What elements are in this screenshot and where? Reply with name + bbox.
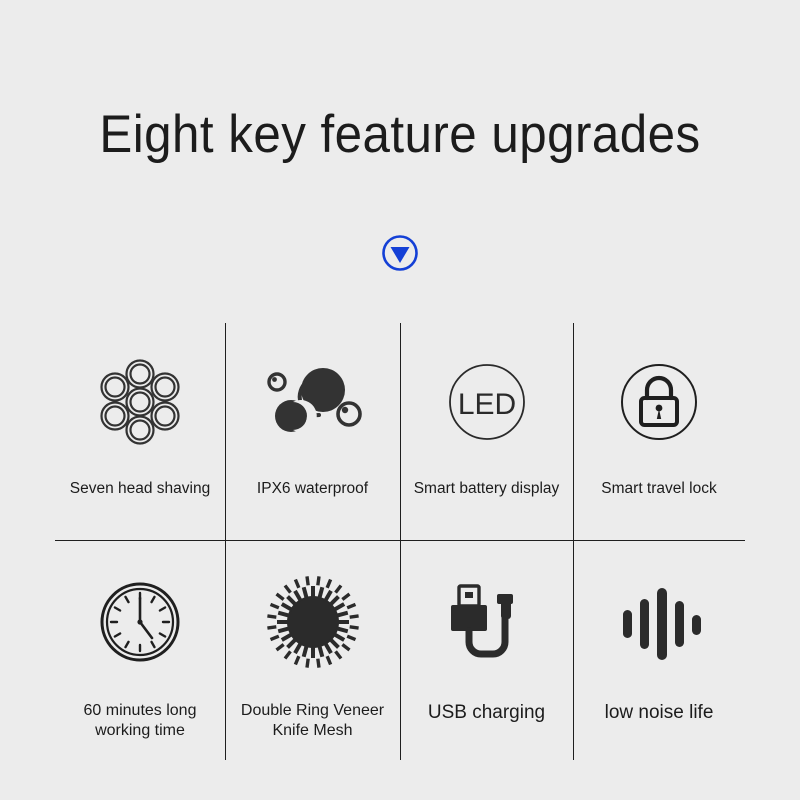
features-grid: Seven head shaving [55,323,745,760]
feature-cell-ipx6-waterproof[interactable]: IPX6 waterproof [225,323,400,540]
feature-label: low noise life [573,701,745,725]
feature-cell-smart-travel-lock[interactable]: Smart travel lock [573,323,745,540]
clock-icon [55,541,225,687]
feature-label: Seven head shaving [55,479,225,499]
feature-infographic-page: Eight key feature upgrades [0,0,800,800]
feature-label-line1: 60 minutes long [84,702,197,719]
feature-cell-smart-battery-display[interactable]: LED Smart battery display [400,323,573,540]
feature-label: Smart battery display [400,479,573,499]
feature-cell-low-noise[interactable]: low noise life [573,541,745,760]
sound-wave-icon [573,541,745,687]
feature-label-line1: low noise life [605,702,714,723]
feature-label: Double Ring Veneer Knife Mesh [225,701,400,742]
double-ring-knife-mesh-icon [225,541,400,687]
feature-label-line1: USB charging [428,702,545,723]
feature-label: Smart travel lock [573,479,745,499]
usb-cable-icon [400,541,573,687]
feature-cell-seven-head-shaving[interactable]: Seven head shaving [55,323,225,540]
led-display-icon: LED [400,323,573,467]
feature-cell-usb-charging[interactable]: USB charging [400,541,573,760]
feature-label-line1: IPX6 waterproof [257,480,368,497]
feature-label-line2: working time [59,721,221,741]
feature-label-line1: Double Ring Veneer [241,702,384,719]
padlock-icon [573,323,745,467]
feature-cell-working-time[interactable]: 60 minutes long working time [55,541,225,760]
feature-label-line2: Knife Mesh [229,721,396,741]
chevron-down-circle-icon [381,234,419,272]
feature-label: IPX6 waterproof [225,479,400,499]
feature-cell-knife-mesh[interactable]: Double Ring Veneer Knife Mesh [225,541,400,760]
water-droplets-icon [225,323,400,467]
seven-rings-shaving-head-icon [55,323,225,467]
page-title: Eight key feature upgrades [28,108,772,161]
feature-label-line1: Smart battery display [414,480,560,497]
feature-label: 60 minutes long working time [55,701,225,742]
feature-row-1: Seven head shaving [55,323,745,540]
led-icon-text: LED [457,388,515,421]
feature-label-line1: Seven head shaving [70,480,210,497]
feature-label: USB charging [400,701,573,725]
feature-label-line1: Smart travel lock [601,480,716,497]
feature-row-2: 60 minutes long working time [55,541,745,760]
